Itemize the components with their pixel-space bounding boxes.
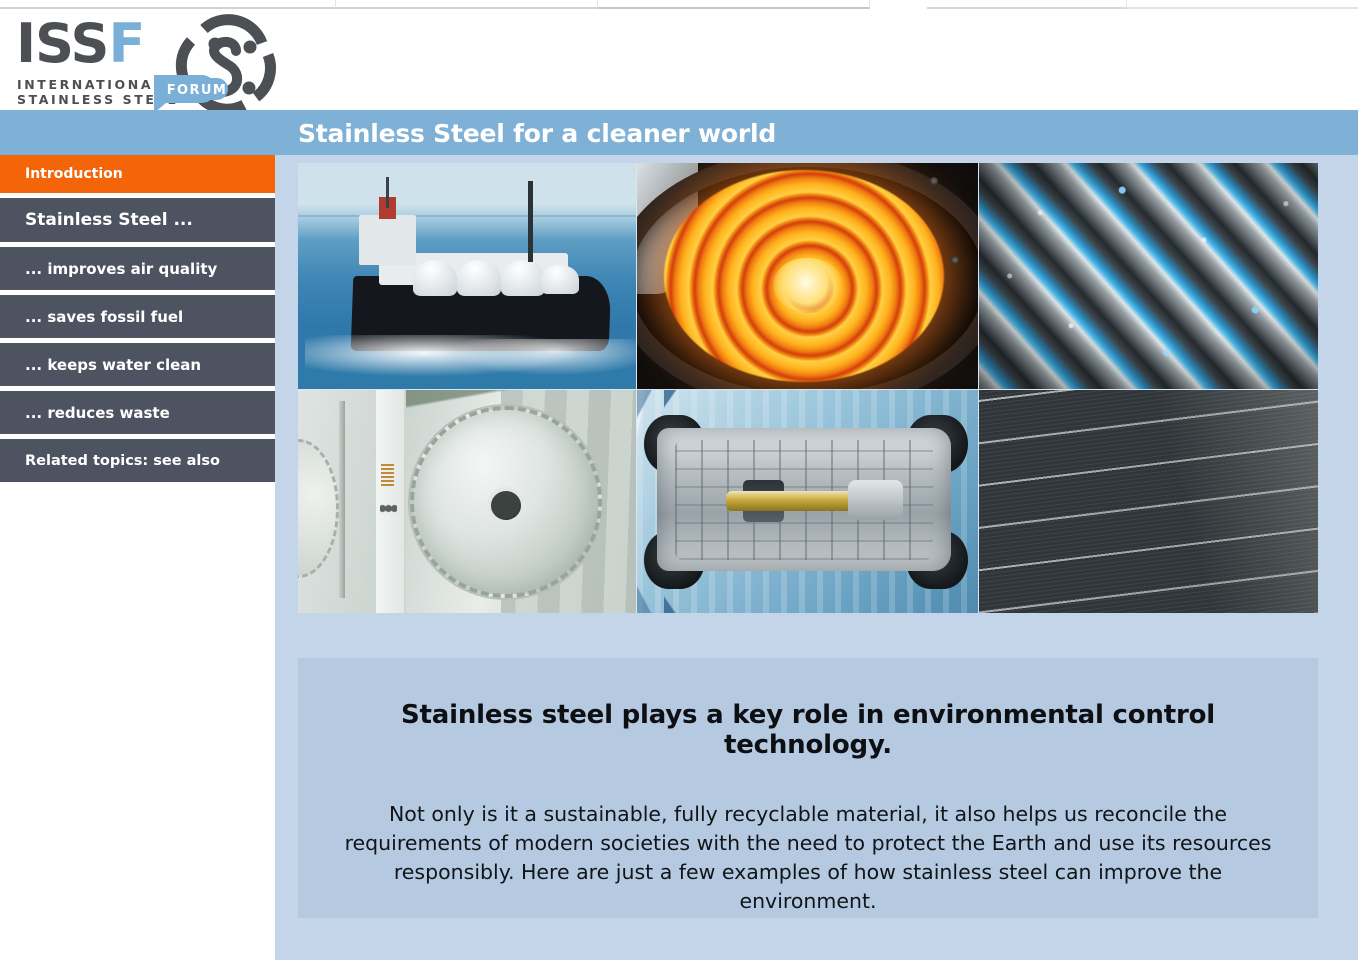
lng-dome [413, 260, 457, 296]
browser-tab[interactable] [336, 0, 598, 9]
sidebar-item-label: ... saves fossil fuel [25, 308, 183, 326]
image-collage [298, 163, 1318, 613]
car-underbody-photo [637, 390, 978, 613]
vertical-rod [339, 401, 346, 598]
housing-screw [951, 256, 959, 264]
sidebar-item-label: ... improves air quality [25, 260, 217, 278]
page-root: ISSF INTERNATIONALSTAINLESS STEEL FOR [0, 0, 1358, 960]
housing-screw [930, 177, 938, 185]
sidebar-item-introduction[interactable]: Introduction [0, 155, 275, 193]
site-header: ISSF INTERNATIONALSTAINLESS STEEL FOR [0, 9, 1358, 110]
lng-dome [541, 265, 578, 294]
lng-dome [457, 260, 501, 296]
sidebar-item-improves-air-quality[interactable]: ... improves air quality [0, 247, 275, 290]
intro-text-panel: Stainless steel plays a key role in envi… [298, 658, 1318, 918]
control-panel [376, 390, 406, 613]
spiral-hot-core [773, 258, 841, 312]
muffler [848, 480, 903, 520]
logo-wordmark-f: F [108, 12, 144, 75]
tank-port-hole [491, 491, 521, 520]
issf-logo[interactable]: ISSF INTERNATIONALSTAINLESS STEEL FOR [14, 13, 284, 109]
sidebar-item-label: Related topics: see also [25, 453, 220, 469]
glowing-heating-element-photo [637, 163, 978, 389]
solar-panel-array-photo [979, 390, 1318, 613]
browser-tab[interactable] [598, 0, 870, 9]
stainless-tank-vessel-photo [298, 390, 636, 613]
intro-heading: Stainless steel plays a key role in envi… [326, 700, 1290, 760]
photo-vignette [979, 163, 1318, 389]
browser-tab-strip [0, 0, 1358, 9]
sidebar-item-related-topics[interactable]: Related topics: see also [0, 439, 275, 482]
svg-text:FORUM: FORUM [167, 83, 227, 98]
page-title-bar: Stainless Steel for a cleaner world [0, 110, 1358, 155]
body-area: Introduction Stainless Steel ... ... imp… [0, 155, 1358, 960]
logo-wordmark-iss: ISS [16, 12, 108, 75]
sea-horizon [298, 215, 636, 217]
ship-mast [386, 177, 389, 209]
issf-circle-mark-icon: FORUM [144, 13, 284, 113]
logo-tagline-line1: INTERNATIONAL [17, 77, 164, 92]
ship-bridge [359, 215, 416, 265]
lng-dome [501, 260, 545, 296]
panel-knobs [380, 502, 397, 515]
ship-mast [528, 181, 533, 262]
page-title: Stainless Steel for a cleaner world [298, 119, 776, 148]
ship-wake [433, 339, 636, 380]
sidebar-item-label: Introduction [25, 166, 123, 182]
secondary-tank-disc [298, 439, 339, 578]
browser-tab[interactable] [1127, 0, 1358, 9]
sidebar-item-label: ... keeps water clean [25, 356, 201, 374]
sidebar-item-keeps-water-clean[interactable]: ... keeps water clean [0, 343, 275, 386]
panel-sheen [979, 390, 1318, 613]
sidebar-item-reduces-waste[interactable]: ... reduces waste [0, 391, 275, 434]
tab-strip-gap [870, 0, 927, 9]
main-content: Stainless steel plays a key role in envi… [275, 155, 1358, 960]
browser-tab[interactable] [927, 0, 1127, 9]
logo-wordmark: ISSF [16, 17, 144, 71]
sidebar-item-label: Stainless Steel ... [25, 210, 193, 230]
panel-label [381, 464, 394, 486]
wet-corrugated-metal-photo [979, 163, 1318, 389]
sidebar-item-stainless-steel[interactable]: Stainless Steel ... [0, 198, 275, 242]
sidebar-item-label: ... reduces waste [25, 404, 170, 422]
lng-tanker-ship-photo [298, 163, 636, 389]
intro-paragraph: Not only is it a sustainable, fully recy… [328, 800, 1288, 916]
sidebar-navigation: Introduction Stainless Steel ... ... imp… [0, 155, 275, 960]
sidebar-item-saves-fossil-fuel[interactable]: ... saves fossil fuel [0, 295, 275, 338]
browser-tab[interactable] [0, 0, 336, 9]
